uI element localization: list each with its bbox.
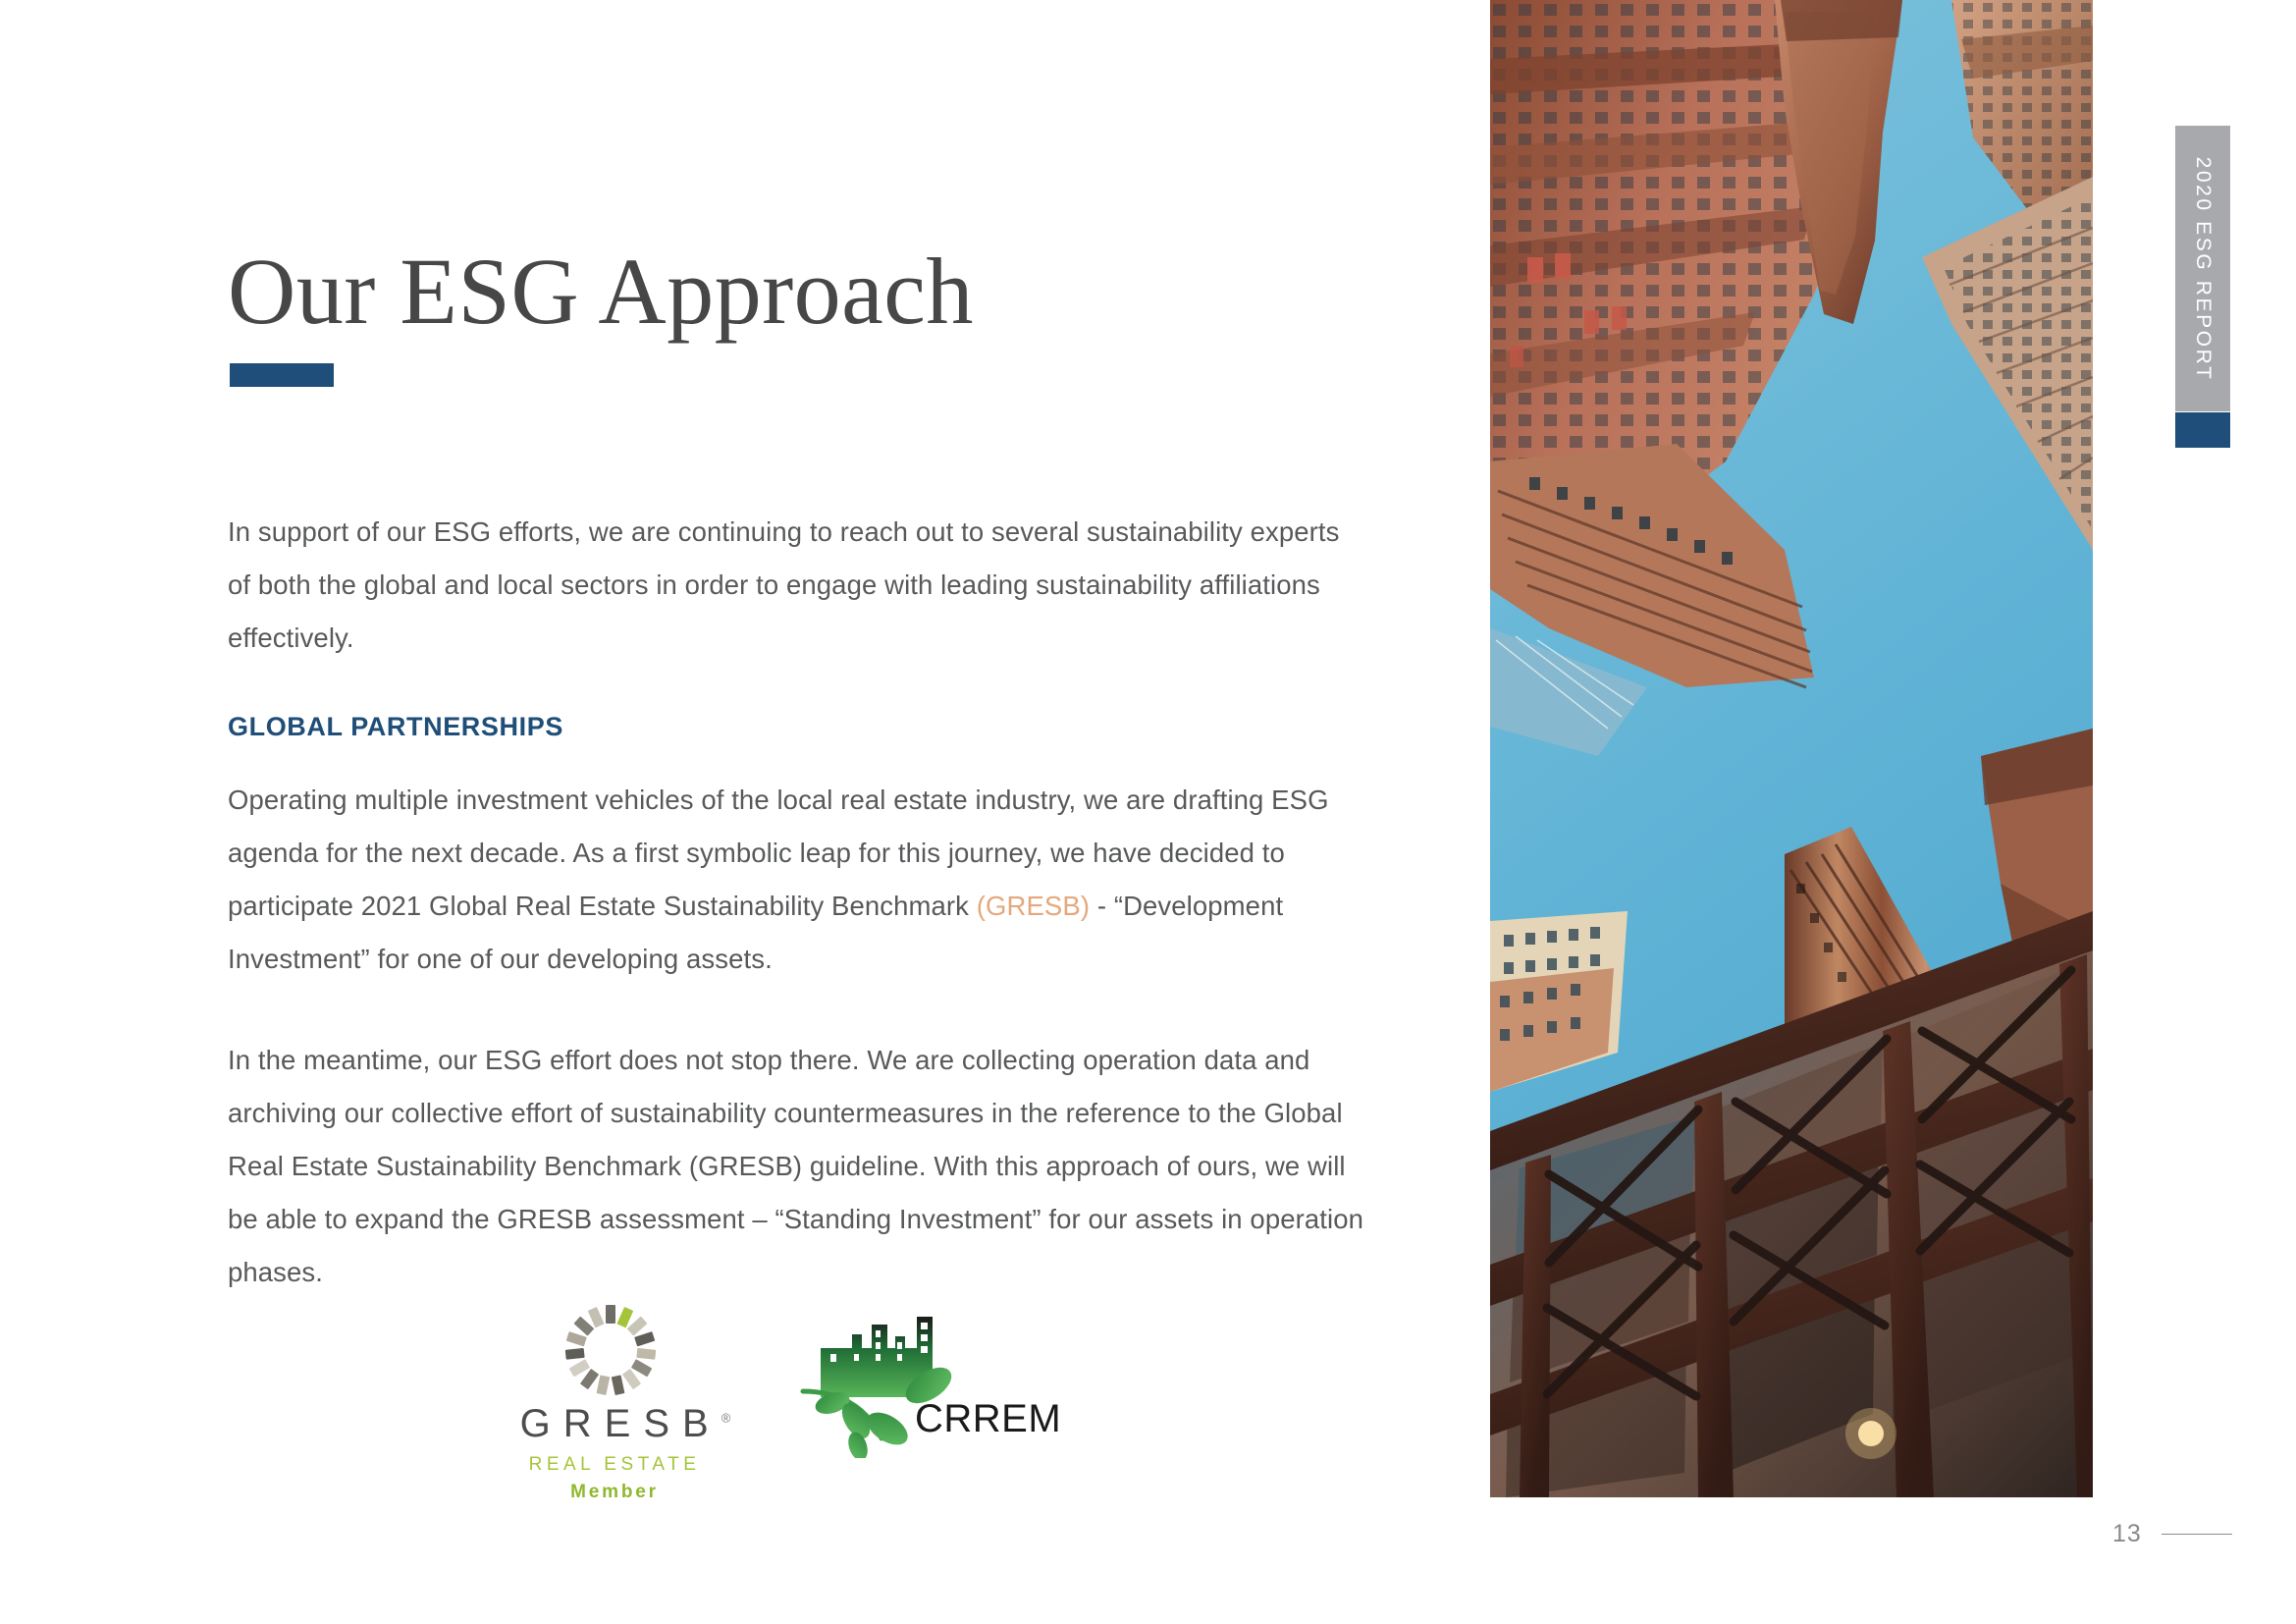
gresb-ring-icon: [561, 1301, 660, 1399]
page-number: 13: [2112, 1520, 2142, 1548]
partner-logos-row: GRESB® REAL ESTATE Member: [503, 1301, 1229, 1517]
gresb-logo: GRESB® REAL ESTATE Member: [503, 1301, 748, 1517]
side-tab-accent-block: [2175, 412, 2230, 448]
section-heading-global-partnerships: GLOBAL PARTNERSHIPS: [228, 712, 563, 742]
side-tab: 2020 ESG REPORT: [2175, 126, 2230, 411]
crrem-wordmark: CRREM: [915, 1397, 1061, 1441]
registered-trademark-icon: ®: [721, 1411, 731, 1426]
partnerships-paragraph: Operating multiple investment vehicles o…: [228, 774, 1357, 986]
title-accent-rule: [230, 363, 334, 387]
page-footer: 13: [2112, 1520, 2232, 1548]
gresb-subtitle-real-estate: REAL ESTATE: [503, 1454, 726, 1476]
gresb-wordmark-text: GRESB: [520, 1402, 721, 1445]
content-column: Our ESG Approach In support of our ESG e…: [228, 0, 1386, 1624]
gresb-wordmark: GRESB®: [503, 1402, 748, 1446]
crrem-logo: CRREM: [797, 1301, 1062, 1468]
hero-photo: [1490, 0, 2093, 1497]
meantime-paragraph: In the meantime, our ESG effort does not…: [228, 1034, 1376, 1299]
gresb-subtitle-member: Member: [503, 1482, 726, 1503]
page-title: Our ESG Approach: [228, 244, 974, 339]
page-footer-rule: [2162, 1534, 2232, 1535]
gresb-highlight-text: (GRESB): [977, 891, 1090, 921]
side-tab-label: 2020 ESG REPORT: [2191, 156, 2215, 381]
intro-paragraph: In support of our ESG efforts, we are co…: [228, 506, 1357, 665]
